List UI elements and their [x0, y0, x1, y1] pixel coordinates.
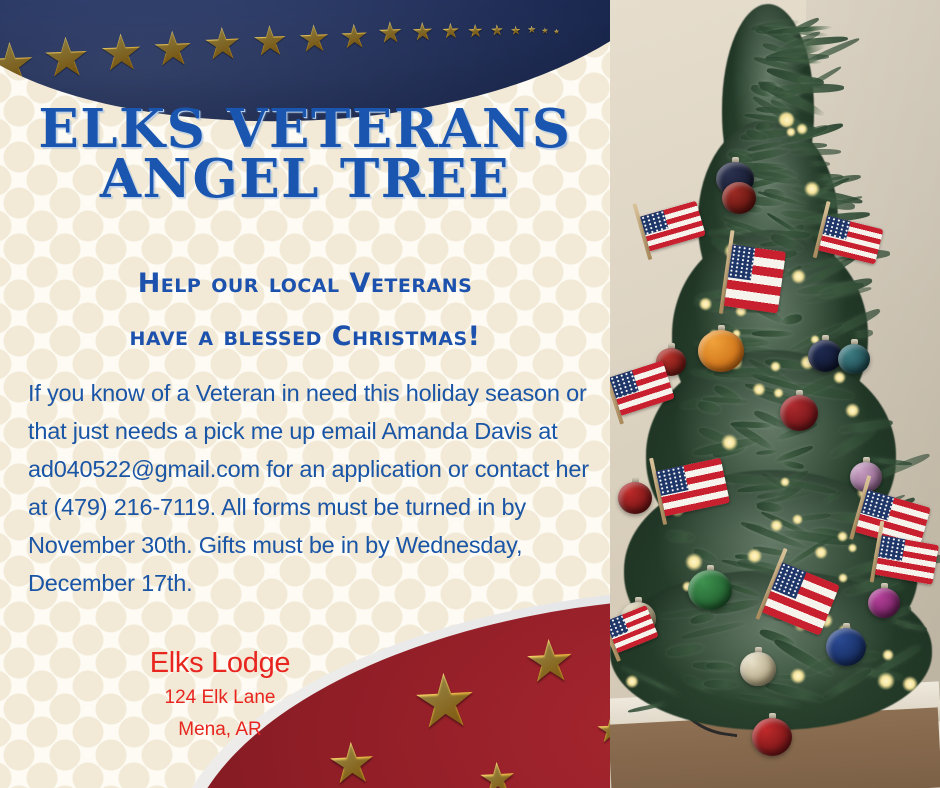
tree-light	[796, 123, 808, 135]
christmas-tree-photo	[610, 0, 940, 788]
tree-light	[838, 573, 848, 583]
lodge-street: 124 Elk Lane	[0, 682, 440, 714]
tree-light	[792, 514, 803, 525]
flyer-panel: ★★★★★★★★★★★★★★★★★★ ★★★★★★ ELKS VETERANS …	[0, 0, 610, 788]
tree-light	[721, 434, 738, 451]
green-spinner-ornament	[688, 570, 732, 610]
white-bell-ornament	[740, 652, 776, 686]
tree-branch	[706, 662, 733, 670]
tree-light	[780, 477, 789, 486]
tree-light	[625, 675, 639, 689]
tree-light	[770, 361, 781, 372]
subheading-line-1: Help our local Veterans	[0, 258, 610, 311]
tree-light	[699, 297, 713, 311]
tree-light	[845, 403, 860, 418]
tree-light	[752, 383, 765, 396]
subheading: Help our local Veterans have a blessed C…	[0, 258, 610, 363]
flag-cloth	[724, 245, 786, 314]
flag-canton	[656, 466, 688, 496]
tree-light	[770, 519, 783, 532]
lodge-city-state: Mena, AR	[0, 714, 440, 746]
flag-upper-center	[724, 245, 786, 314]
red-ornament	[722, 182, 756, 214]
body-paragraph: If you know of a Veteran in need this ho…	[28, 374, 598, 602]
red-dotted-ornament	[780, 395, 818, 431]
flag-canton	[610, 615, 629, 639]
teal-ornament	[838, 344, 870, 374]
tree-light	[790, 668, 806, 684]
flyer-content: ELKS VETERANS ANGEL TREE Help our local …	[0, 0, 610, 788]
bottom-red-ornament	[752, 718, 792, 756]
flyer-poster: ★★★★★★★★★★★★★★★★★★ ★★★★★★ ELKS VETERANS …	[0, 0, 940, 788]
blue-ball-ornament	[826, 628, 866, 666]
tree-light	[791, 269, 805, 283]
tree-light	[833, 371, 846, 384]
tree-light	[786, 127, 795, 136]
lodge-address-block: Elks Lodge 124 Elk Lane Mena, AR	[0, 644, 440, 746]
flag-canton	[878, 535, 906, 560]
orange-striped-ornament	[698, 330, 744, 372]
tree-light	[882, 649, 893, 660]
dark-blue-ornament	[808, 340, 842, 372]
tree-light	[804, 181, 820, 197]
red-ball-ornament	[618, 482, 652, 514]
tree-branch	[790, 149, 841, 155]
page-title: ELKS VETERANS ANGEL TREE	[0, 104, 610, 205]
subheading-line-2: have a blessed Christmas!	[0, 311, 610, 364]
title-line-2: ANGEL TREE	[0, 154, 610, 204]
magenta-ornament	[868, 588, 900, 618]
lodge-name: Elks Lodge	[0, 644, 440, 682]
tree-light	[747, 548, 763, 564]
flag-canton	[728, 245, 755, 281]
tree-light	[814, 546, 827, 559]
